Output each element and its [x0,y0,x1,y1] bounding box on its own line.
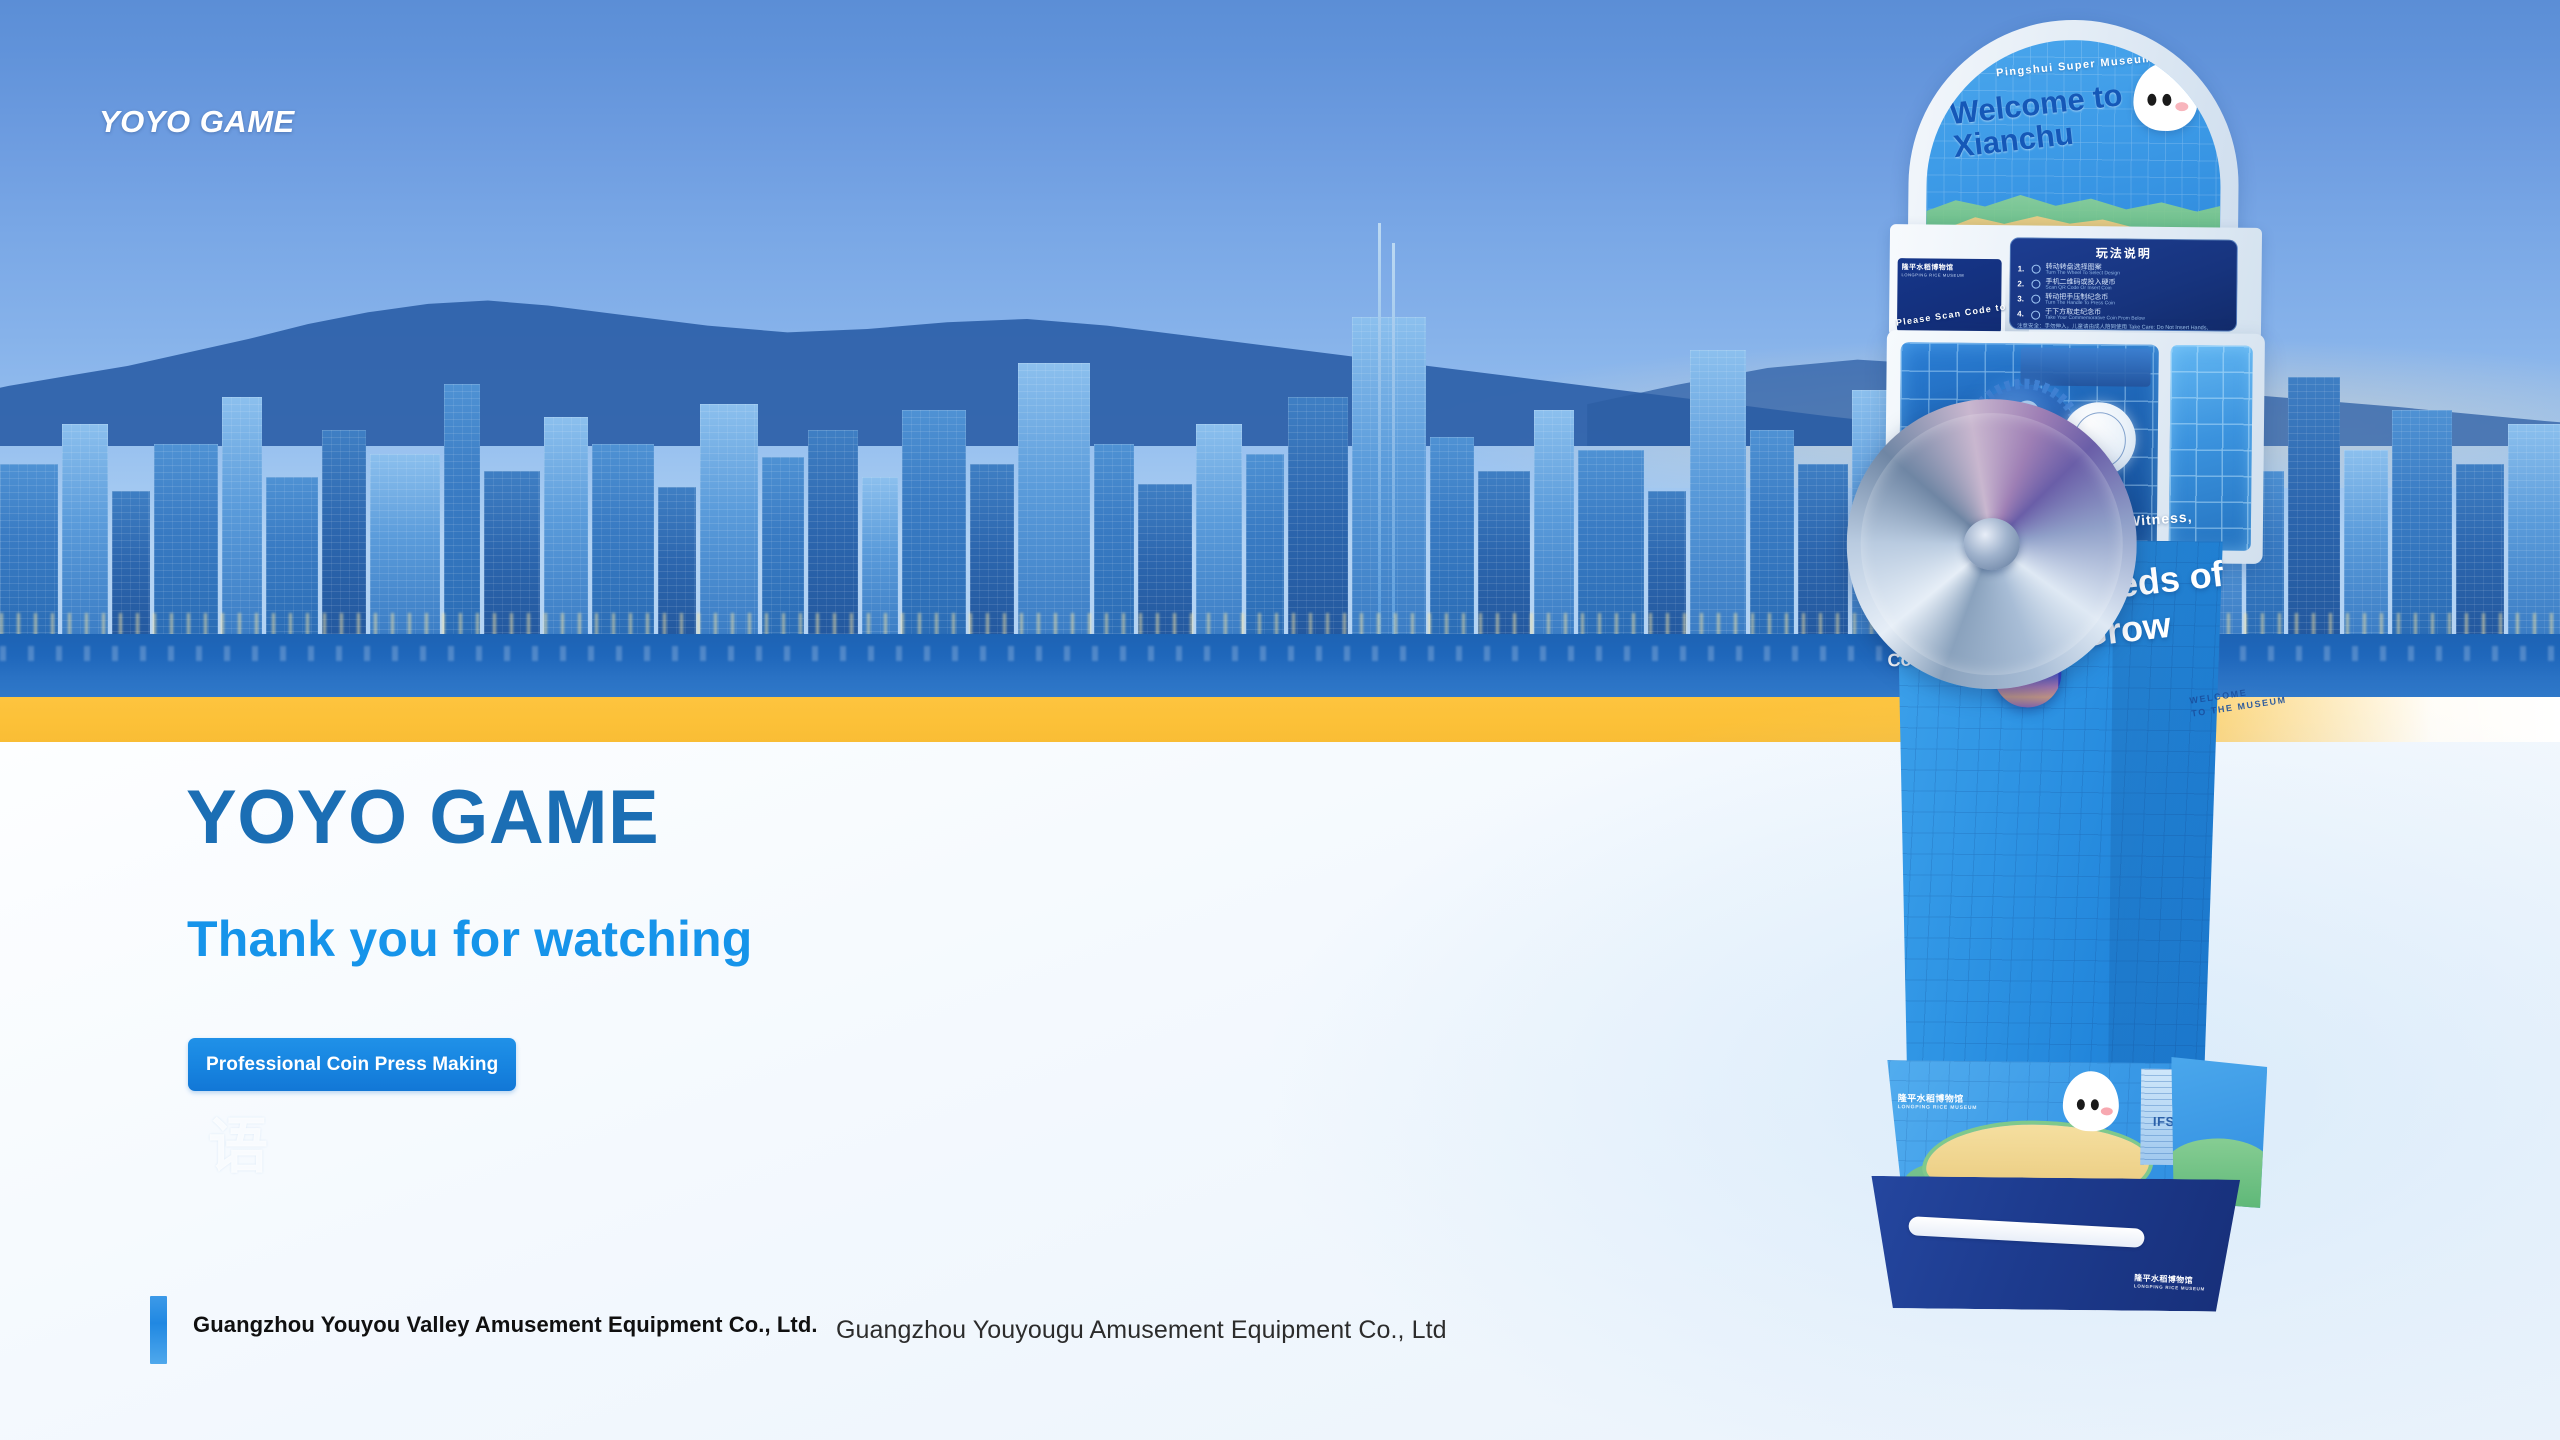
professional-coin-press-making-button[interactable]: Professional Coin Press Making [188,1038,516,1091]
page-title: YOYO GAME [186,778,659,858]
instruction-row: 2. 手机二维码或投入硬币 Scan QR Code Or Insert Coi… [2017,278,2229,293]
instruction-row: 3. 转动把手压制纪念币 Turn The Handle To Press Co… [2017,293,2229,308]
page-subtitle: Thank you for watching [187,912,753,967]
brand-logo: YOYO GAME [99,104,295,140]
instruction-row: 1. 转动转盘选择图案 Turn The Wheel To Select Des… [2018,263,2230,278]
instruction-step-icon [2032,265,2041,274]
mascot-eye-left [2077,1099,2085,1110]
instruction-row: 4. 于下方取走纪念币 Take Your Commemorative Coin… [2017,308,2229,323]
instruction-text: 转动把手压制纪念币 Turn The Handle To Press Coin [2045,293,2115,306]
base-museum-logo: 隆平水稻博物馆 LONGPING RICE MUSEUM [1898,1093,1978,1111]
instruction-title: 玩法说明 [2018,243,2230,262]
coin-dispense-slot [1909,1216,2145,1248]
steering-wheel-control[interactable] [1845,398,2138,691]
mascot-eye-right [2091,1099,2099,1110]
instruction-step-icon [2031,280,2040,289]
instruction-step-icon [2031,310,2040,319]
instruction-panel: 玩法说明 1. 转动转盘选择图案 Turn The Wheel To Selec… [2009,237,2238,331]
instruction-number: 2. [2017,280,2026,288]
instruction-text: 转动转盘选择图案 Turn The Wheel To Select Design [2046,263,2121,276]
wheel-hub [1963,518,2020,571]
machine-arch-artwork: Pingshui Super Museum Welcome to Xianchu [1926,38,2222,247]
footer-accent-bar [150,1296,167,1364]
instruction-text: 于下方取走纪念币 Take Your Commemorative Coin Fr… [2045,308,2145,322]
mascot-blush [2175,102,2188,111]
mascot-blush [2100,1107,2112,1115]
instruction-text: 手机二维码或投入硬币 Scan QR Code Or Insert Coin [2045,278,2115,291]
instruction-number: 4. [2017,310,2026,318]
base-tray-logo: 隆平水稻博物馆 LONGPING RICE MUSEUM [2133,1273,2205,1291]
instruction-number: 1. [2018,265,2027,273]
footer-company-secondary: Guangzhou Youyougu Amusement Equipment C… [836,1316,1447,1345]
machine-base-tray: 隆平水稻博物馆 LONGPING RICE MUSEUM [1859,1176,2240,1312]
instruction-step-icon [2031,295,2040,304]
instruction-number: 3. [2017,295,2026,303]
mascot-eye-right [2163,93,2172,105]
mascot-eye-left [2147,93,2156,105]
footer-company-primary: Guangzhou Youyou Valley Amusement Equipm… [193,1312,818,1338]
product-image-coin-press-machine: Pingshui Super Museum Welcome to Xianchu… [1838,8,2313,1413]
museum-logo-text-en: LONGPING RICE MUSEUM [1902,272,1998,278]
